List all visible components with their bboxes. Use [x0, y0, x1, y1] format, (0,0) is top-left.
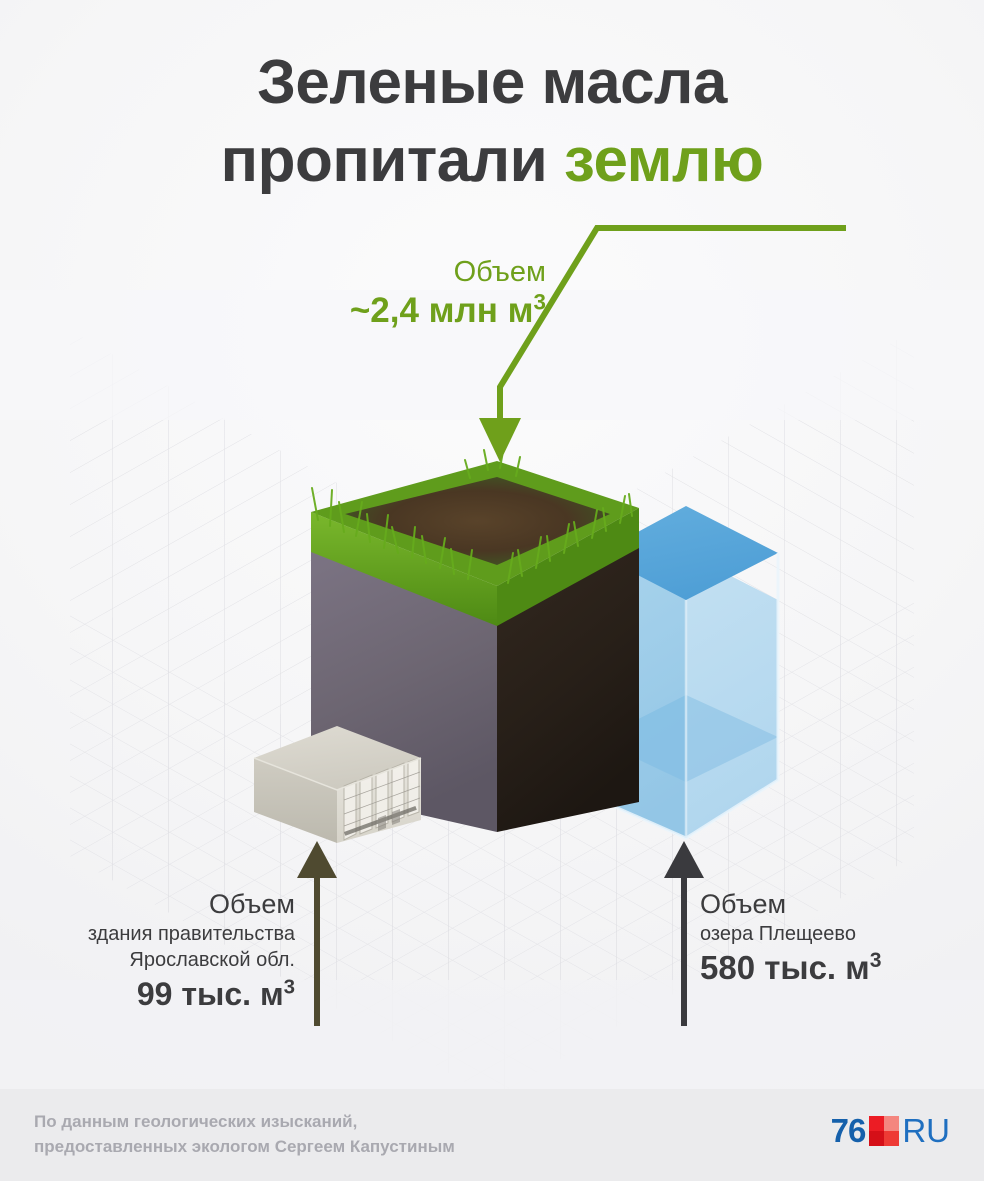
label-building-value: 99 тыс. м3	[30, 973, 295, 1015]
callout-soil-label: Объем	[246, 255, 546, 289]
logo-76-text: 76	[831, 1114, 866, 1148]
label-building-unit-exponent: 3	[284, 975, 295, 998]
label-building-number: 99 тыс. м	[137, 976, 284, 1012]
logo-red-square-icon	[869, 1116, 899, 1146]
callout-soil-number: ~2,4 млн м	[350, 291, 534, 330]
green-connector-path	[500, 228, 846, 425]
callout-soil-unit-exponent: 3	[534, 289, 546, 314]
title-line-2-plain: пропитали	[221, 126, 564, 195]
footer-bar: По данным геологических изысканий, предо…	[0, 1089, 984, 1181]
label-lake-volume: Объем озера Плещеево 580 тыс. м3	[700, 888, 970, 989]
page-title: Зеленые масла пропитали землю	[0, 44, 984, 200]
label-building-volume: Объем здания правительства Ярославской о…	[30, 888, 295, 1015]
label-lake-sub1: озера Плещеево	[700, 921, 970, 947]
label-building-head: Объем	[30, 888, 295, 921]
label-lake-unit-exponent: 3	[870, 949, 882, 972]
footer-credit-line-2: предоставленных экологом Сергеем Капусти…	[34, 1134, 455, 1159]
logo-76ru[interactable]: 76 RU	[831, 1111, 950, 1151]
title-accent-word: землю	[564, 126, 763, 195]
logo-ru-text: RU	[902, 1114, 950, 1148]
footer-credit-line-1: По данным геологических изысканий,	[34, 1109, 455, 1134]
label-building-sub2: Ярославской обл.	[30, 947, 295, 973]
label-lake-head: Объем	[700, 888, 970, 921]
label-lake-value: 580 тыс. м3	[700, 947, 970, 989]
label-building-sub1: здания правительства	[30, 921, 295, 947]
title-line-2: пропитали землю	[0, 122, 984, 200]
green-arrow-head	[479, 418, 521, 462]
infographic-canvas: Зеленые масла пропитали землю Объем ~2,4…	[0, 0, 984, 1181]
footer-credit: По данным геологических изысканий, предо…	[34, 1109, 455, 1159]
callout-soil-value: ~2,4 млн м3	[246, 289, 546, 333]
label-lake-number: 580 тыс. м	[700, 949, 870, 986]
title-line-1: Зеленые масла	[0, 44, 984, 122]
callout-soil-volume: Объем ~2,4 млн м3	[246, 255, 546, 333]
